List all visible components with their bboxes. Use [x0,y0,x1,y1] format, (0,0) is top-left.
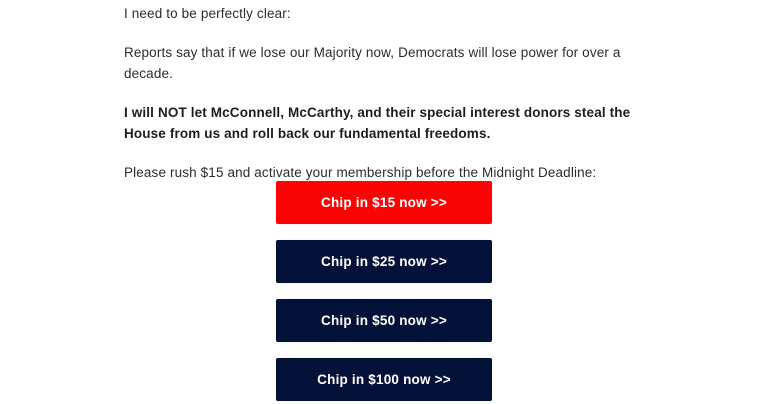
chip-in-25-button[interactable]: Chip in $25 now >> [276,240,492,283]
paragraph-pledge: I will NOT let McConnell, McCarthy, and … [124,102,636,144]
paragraph-lede: I need to be perfectly clear: [124,0,636,24]
donation-button-stack: Chip in $15 now >> Chip in $25 now >> Ch… [0,181,768,401]
paragraph-reports: Reports say that if we lose our Majority… [124,42,636,84]
chip-in-15-button[interactable]: Chip in $15 now >> [276,181,492,224]
paragraph-ask: Please rush $15 and activate your member… [124,162,636,183]
chip-in-100-button[interactable]: Chip in $100 now >> [276,358,492,401]
email-body: I need to be perfectly clear: Reports sa… [0,0,768,404]
chip-in-50-button[interactable]: Chip in $50 now >> [276,299,492,342]
email-content-column: I need to be perfectly clear: Reports sa… [124,0,636,183]
